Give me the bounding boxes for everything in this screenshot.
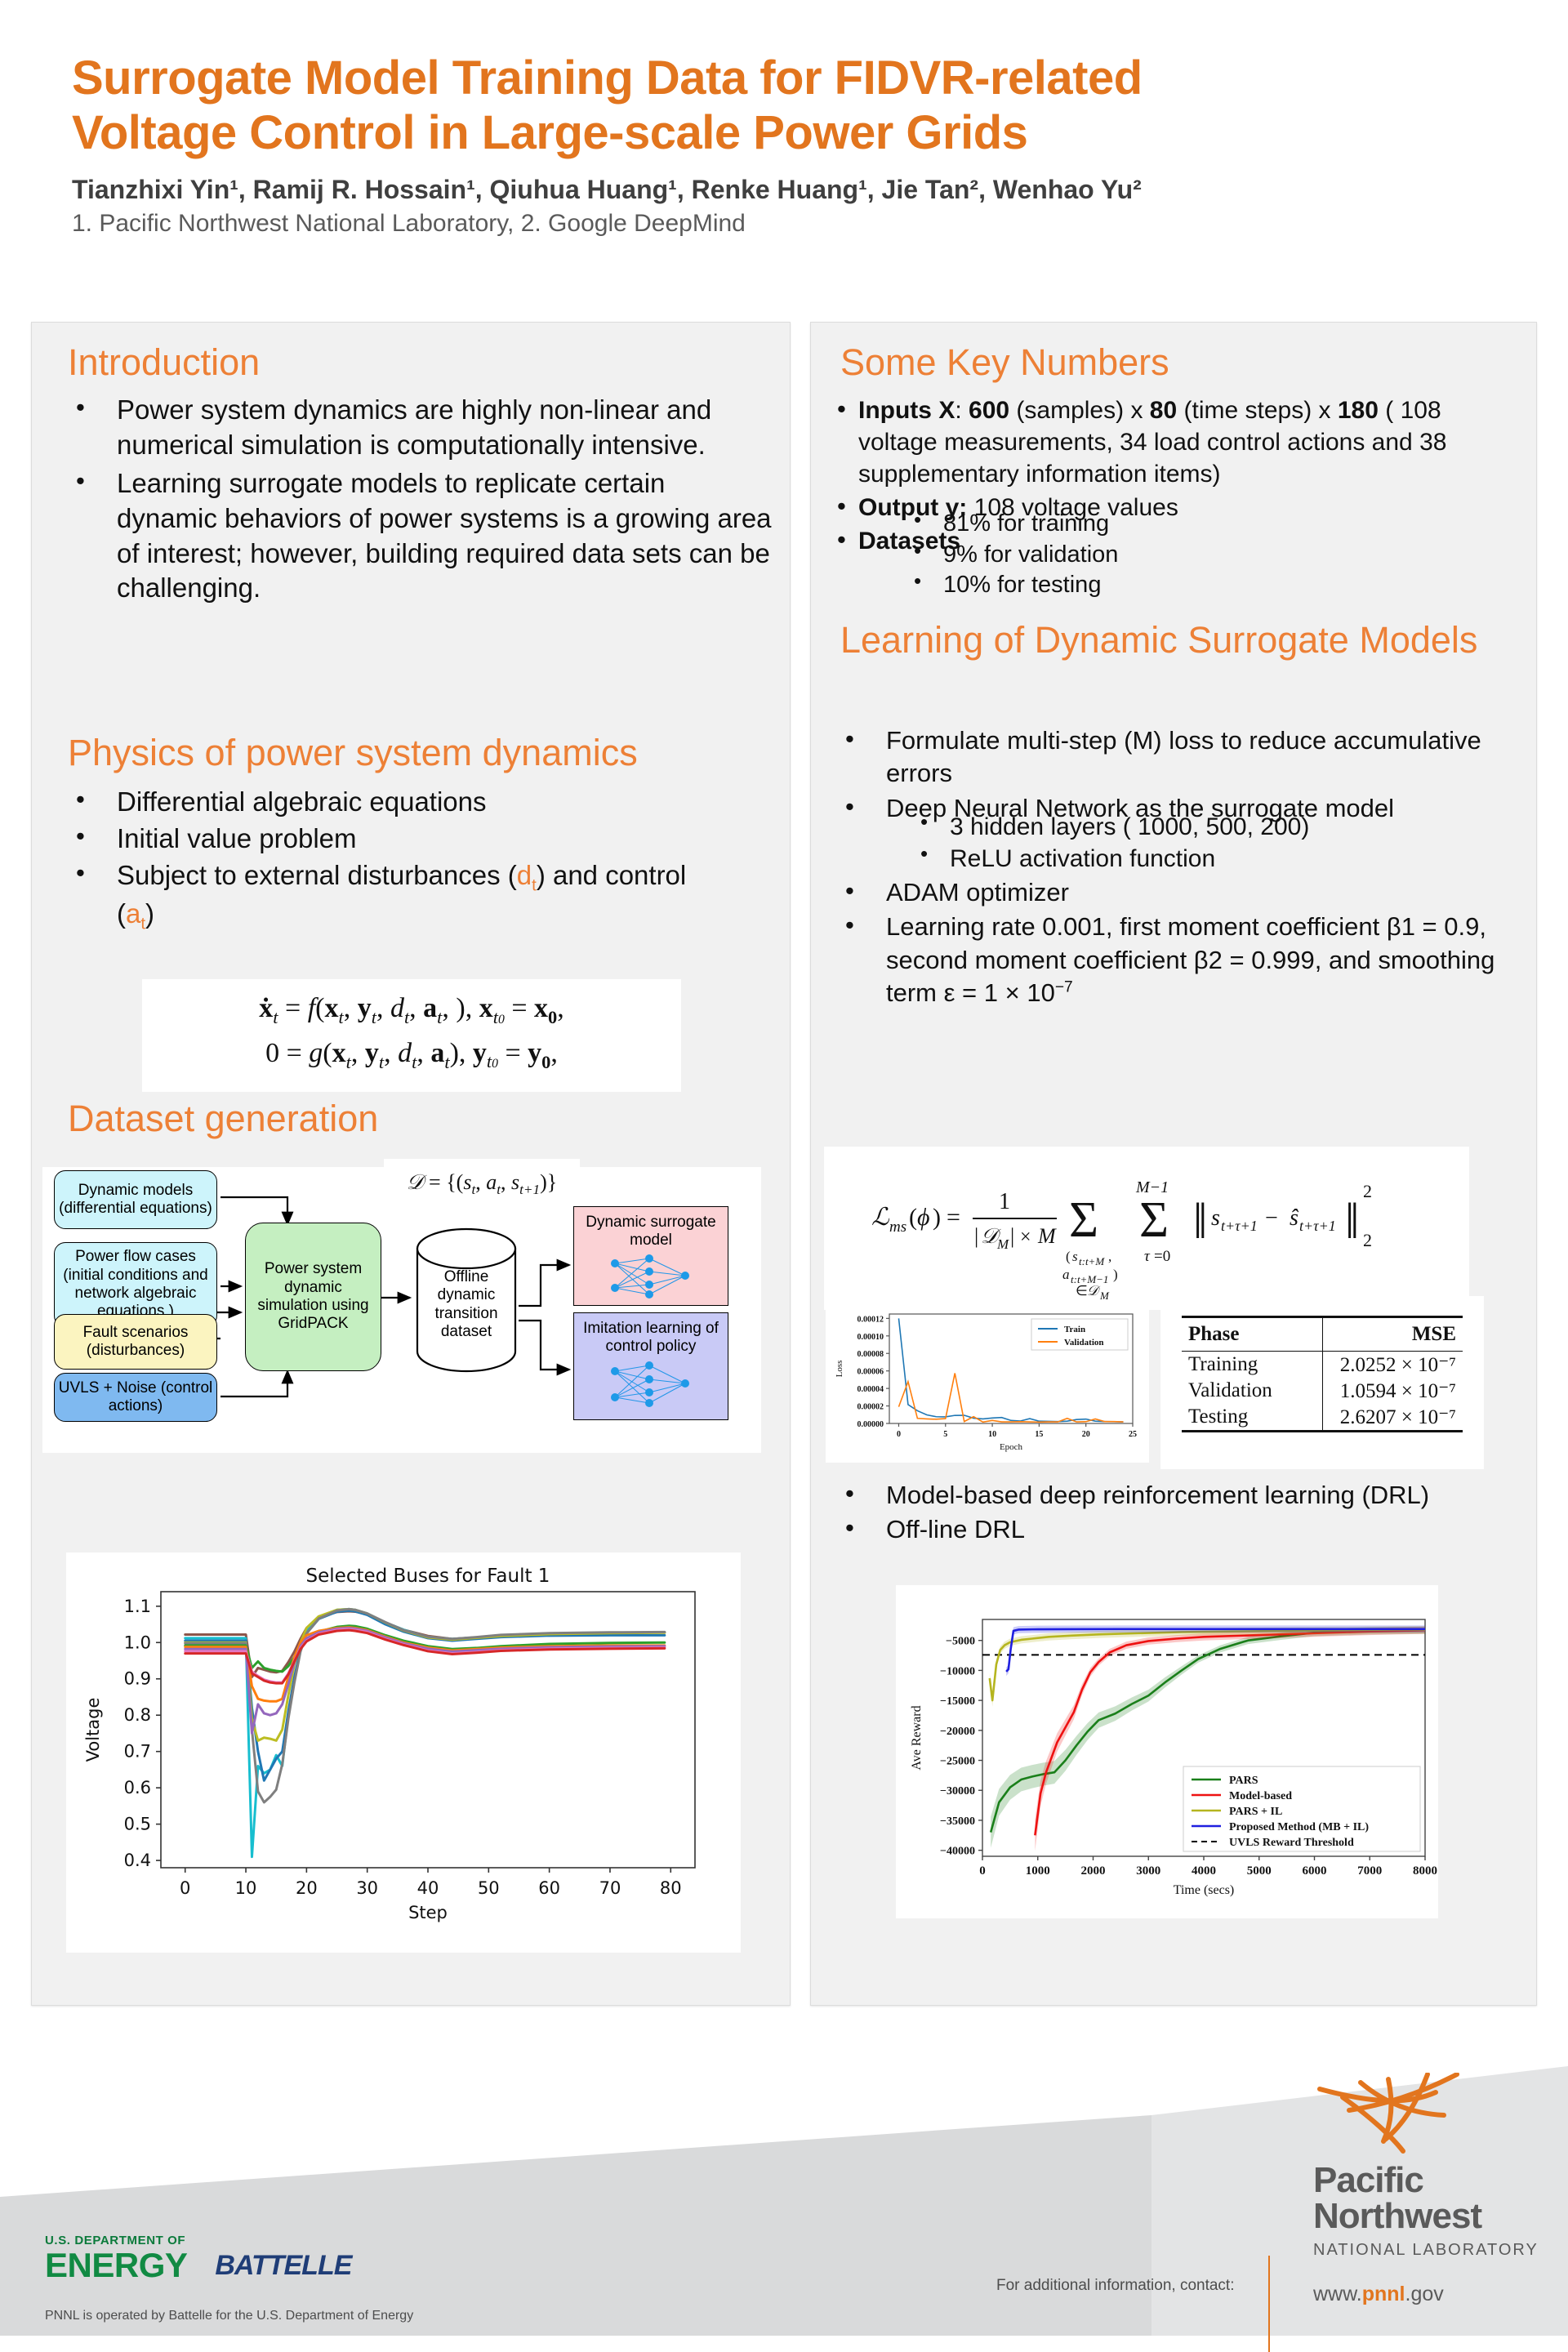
svg-text:4000: 4000: [1192, 1864, 1216, 1878]
column-header-phase: Phase: [1182, 1317, 1322, 1352]
diagram-box-label: Power flow cases (initial conditions and…: [58, 1248, 213, 1321]
url-prefix: www.: [1313, 2283, 1362, 2305]
svg-text:Selected Buses for Fault 1: Selected Buses for Fault 1: [306, 1566, 550, 1587]
diagram-box-uvls-noise: UVLS + Noise (control actions): [54, 1373, 217, 1422]
svg-text:70: 70: [599, 1878, 621, 1898]
diagram-box-label: UVLS + Noise (control actions): [58, 1379, 213, 1416]
svg-text:0: 0: [979, 1864, 986, 1878]
section-heading-introduction: Introduction: [68, 342, 260, 383]
svg-text:10: 10: [235, 1878, 257, 1898]
url-domain: pnnl: [1362, 2283, 1405, 2305]
operated-note: PNNL is operated by Battelle for the U.S…: [45, 2309, 413, 2323]
diagram-box-label: Dynamic surrogate model: [577, 1214, 724, 1250]
svg-text:0.8: 0.8: [124, 1705, 151, 1725]
table-body: Training2.0252 × 10⁻⁷Validation1.0594 × …: [1182, 1352, 1463, 1432]
diagram-box-label: Imitation learning of control policy: [577, 1320, 724, 1356]
contact-text: For additional information, contact:: [996, 2277, 1235, 2295]
cell-phase: Validation: [1182, 1378, 1322, 1404]
svg-text:PARS: PARS: [1229, 1775, 1258, 1787]
svg-text:20: 20: [296, 1878, 318, 1898]
svg-text:5: 5: [943, 1430, 947, 1439]
list-item-learning-rate: Learning rate 0.001, first moment coeffi…: [831, 911, 1525, 1009]
cell-mse: 2.0252 × 10⁻⁷: [1322, 1352, 1463, 1379]
svg-text:s: s: [1072, 1249, 1078, 1264]
svg-text:‖: ‖: [1193, 1194, 1207, 1249]
loss-equation-render: ℒ ms ( ϕ ) = 1 | 𝒟 M | × M Σ ( s: [824, 1147, 1469, 1310]
section-heading-physics: Physics of power system dynamics: [68, 733, 638, 773]
svg-text:t:t+M: t:t+M: [1079, 1255, 1105, 1267]
svg-text:M: M: [1037, 1224, 1057, 1248]
svg-text:60: 60: [538, 1878, 560, 1898]
svg-text:0: 0: [897, 1430, 901, 1439]
learning-sub-bullets: 3 hidden layers ( 1000, 500, 200) ReLU a…: [911, 811, 1482, 875]
svg-text:30: 30: [356, 1878, 378, 1898]
svg-text:s: s: [1211, 1205, 1220, 1231]
neural-net-icon: [602, 1358, 700, 1409]
left-column-panel: Introduction Power system dynamics are h…: [31, 322, 791, 2006]
list-item: 9% for validation: [904, 540, 1476, 571]
svg-text:Step: Step: [408, 1903, 448, 1922]
svg-text:=: =: [947, 1204, 960, 1231]
pnnl-logo-mark-icon: [1313, 2073, 1493, 2154]
svg-text:−40000: −40000: [940, 1846, 975, 1858]
svg-text:0.00006: 0.00006: [857, 1368, 884, 1377]
right-column-panel: Some Key Numbers Inputs X: 600 (samples)…: [810, 322, 1537, 2006]
svg-text:1000: 1000: [1026, 1864, 1050, 1878]
diagram-cylinder-offline-dataset: Offline dynamic transition dataset: [414, 1227, 519, 1373]
list-item: Model-based deep reinforcement learning …: [831, 1479, 1533, 1512]
diagram-box-surrogate-model: Dynamic surrogate model: [573, 1206, 728, 1306]
training-loss-chart: 05101520250.000000.000020.000040.000060.…: [826, 1303, 1149, 1463]
svg-text:ŝ: ŝ: [1290, 1205, 1299, 1231]
svg-text:UVLS Reward Threshold: UVLS Reward Threshold: [1229, 1837, 1354, 1849]
svg-text:0.00000: 0.00000: [857, 1420, 884, 1429]
svg-text:∈: ∈: [1076, 1283, 1088, 1298]
svg-text:40: 40: [417, 1878, 439, 1898]
pnnl-name-line1: Pacific: [1313, 2163, 1539, 2198]
svg-text:Train: Train: [1064, 1325, 1085, 1334]
svg-text:0.5: 0.5: [124, 1815, 151, 1834]
equation-xdot: ẋt = f(xt, yt, dt, at, ), xt0 = x0,: [142, 987, 681, 1032]
svg-text:Σ: Σ: [1139, 1192, 1169, 1248]
pnnl-name-line2: Northwest: [1313, 2198, 1539, 2234]
table-row: Testing2.6207 × 10⁻⁷: [1182, 1404, 1463, 1432]
diagram-box-label: Fault scenarios (disturbances): [58, 1324, 213, 1361]
physics-bullets: Differential algebraic equations Initial…: [61, 785, 780, 937]
list-item-inputs: Inputs X: 600 (samples) x 80 (time steps…: [822, 394, 1523, 490]
datasets-sub-bullets: 81% for training 9% for validation 10% f…: [904, 509, 1476, 601]
section-heading-learning: Learning of Dynamic Surrogate Models: [840, 620, 1486, 661]
doe-logo: U.S. DEPARTMENT OF ENERGY BATTELLE PNNL …: [45, 2234, 413, 2323]
svg-text:0: 0: [180, 1878, 190, 1898]
list-item: ReLU activation function: [911, 843, 1482, 875]
ave-reward-chart: 010002000300040005000600070008000−5000−1…: [896, 1585, 1438, 1918]
introduction-bullets: Power system dynamics are highly non-lin…: [61, 393, 780, 608]
list-item: ADAM optimizer: [831, 876, 1533, 909]
section-heading-dataset: Dataset generation: [68, 1098, 378, 1139]
svg-text:−20000: −20000: [940, 1726, 975, 1738]
svg-text:0.4: 0.4: [124, 1851, 151, 1870]
svg-text:5000: 5000: [1247, 1864, 1272, 1878]
multistep-loss-equation-box: ℒ ms ( ϕ ) = 1 | 𝒟 M | × M Σ ( s: [824, 1147, 1469, 1310]
svg-text:0.6: 0.6: [124, 1778, 151, 1797]
list-item: 10% for testing: [904, 570, 1476, 601]
section-heading-key-numbers: Some Key Numbers: [840, 342, 1169, 383]
svg-text:M: M: [1099, 1290, 1110, 1302]
author-list: Tianzhixi Yin¹, Ramij R. Hossain¹, Qiuhu…: [72, 174, 1509, 239]
chart-title: [66, 1552, 741, 1564]
list-item: 3 hidden layers ( 1000, 500, 200): [911, 811, 1482, 843]
dae-equation-box: ẋt = f(xt, yt, dt, at, ), xt0 = x0, 0 = …: [142, 979, 681, 1092]
svg-text:a: a: [1062, 1267, 1070, 1282]
svg-text:t+τ+1: t+τ+1: [1221, 1218, 1258, 1234]
poster-footer: U.S. DEPARTMENT OF ENERGY BATTELLE PNNL …: [0, 2066, 1568, 2352]
svg-text:0.00002: 0.00002: [857, 1403, 884, 1412]
learning-rate-text: Learning rate 0.001, first moment coeffi…: [886, 912, 1494, 1007]
diagram-box-simulation: Power system dynamic simulation using Gr…: [245, 1223, 381, 1371]
svg-text:−5000: −5000: [946, 1636, 975, 1648]
svg-text:2: 2: [1363, 1230, 1372, 1250]
svg-text:−15000: −15000: [940, 1695, 975, 1708]
svg-text:ms: ms: [889, 1218, 906, 1236]
list-item: Learning surrogate models to replicate c…: [61, 466, 772, 607]
page-title: Surrogate Model Training Data for FIDVR-…: [72, 51, 1509, 161]
svg-text:PARS + IL: PARS + IL: [1229, 1806, 1282, 1818]
svg-text:7000: 7000: [1357, 1864, 1382, 1878]
svg-text:|: |: [1010, 1224, 1014, 1248]
chart-canvas: 05101520250.000000.000020.000040.000060.…: [826, 1303, 1149, 1463]
svg-text:10: 10: [988, 1430, 996, 1439]
title-line-1: Surrogate Model Training Data for FIDVR-…: [72, 51, 1509, 105]
diagram-box-fault-scenarios: Fault scenarios (disturbances): [54, 1314, 217, 1370]
cell-phase: Testing: [1182, 1404, 1322, 1432]
bullet3-pre: Subject to external disturbances (: [117, 860, 517, 890]
equation-algebraic: 0 = g(xt, yt, dt, at), yt0 = y0,: [142, 1032, 681, 1077]
table-row: Validation1.0594 × 10⁻⁷: [1182, 1378, 1463, 1404]
list-item: Off-line DRL: [831, 1513, 1533, 1546]
diagram-box-dynamic-models: Dynamic models (differential equations): [54, 1170, 217, 1229]
svg-text:0.00008: 0.00008: [857, 1350, 884, 1359]
svg-text:,: ,: [1108, 1249, 1111, 1264]
svg-text:1.0: 1.0: [124, 1633, 151, 1652]
poster-header: Surrogate Model Training Data for FIDVR-…: [72, 51, 1509, 239]
svg-text:τ: τ: [1144, 1248, 1151, 1265]
svg-text:3000: 3000: [1136, 1864, 1160, 1878]
cell-mse: 1.0594 × 10⁻⁷: [1322, 1378, 1463, 1404]
poster-root: Surrogate Model Training Data for FIDVR-…: [0, 0, 1568, 2352]
svg-text:ϕ: ϕ: [917, 1204, 930, 1231]
svg-text:0.00004: 0.00004: [857, 1385, 884, 1394]
svg-text:50: 50: [478, 1878, 500, 1898]
svg-text:−30000: −30000: [940, 1785, 975, 1797]
svg-text:Ave Reward: Ave Reward: [910, 1705, 924, 1770]
diagram-box-label: Power system dynamic simulation using Gr…: [249, 1260, 377, 1334]
svg-text:Voltage: Voltage: [83, 1698, 103, 1762]
url-suffix: .gov: [1405, 2283, 1444, 2305]
list-item: 81% for training: [904, 509, 1476, 540]
learning-bullets-2: ADAM optimizer Learning rate 0.001, firs…: [831, 876, 1533, 1011]
svg-text:0.00012: 0.00012: [857, 1315, 884, 1324]
cell-phase: Training: [1182, 1352, 1322, 1379]
table-row: Training2.0252 × 10⁻⁷: [1182, 1352, 1463, 1379]
diagram-box-label: Dynamic models (differential equations): [58, 1182, 213, 1218]
svg-text:): ): [1113, 1267, 1118, 1282]
svg-text:2: 2: [1363, 1181, 1372, 1201]
pnnl-url[interactable]: www.pnnl.gov: [1313, 2283, 1539, 2306]
svg-text:−35000: −35000: [940, 1815, 975, 1828]
authors-text: Tianzhixi Yin¹, Ramij R. Hossain¹, Qiuhu…: [72, 175, 1142, 204]
list-item: Initial value problem: [61, 822, 780, 857]
battelle-logo: BATTELLE: [215, 2250, 351, 2282]
svg-text:×: ×: [1020, 1227, 1031, 1248]
cell-mse: 2.6207 × 10⁻⁷: [1322, 1404, 1463, 1432]
svg-text:ℒ: ℒ: [871, 1204, 890, 1231]
svg-text:−25000: −25000: [940, 1756, 975, 1768]
diagram-box-imitation-learning: Imitation learning of control policy: [573, 1312, 728, 1420]
svg-text:Loss: Loss: [835, 1361, 844, 1378]
affiliations: 1. Pacific Northwest National Laboratory…: [72, 207, 1509, 239]
list-item: Formulate multi-step (M) loss to reduce …: [831, 724, 1525, 791]
svg-text:1.1: 1.1: [124, 1597, 151, 1616]
column-header-mse: MSE: [1322, 1317, 1463, 1352]
svg-text:t+τ+1: t+τ+1: [1299, 1218, 1336, 1234]
svg-text:|: |: [974, 1224, 978, 1248]
svg-text:(: (: [909, 1204, 917, 1231]
svg-text:Time (secs): Time (secs): [1174, 1883, 1235, 1897]
svg-text:15: 15: [1035, 1430, 1043, 1439]
title-line-2: Voltage Control in Large-scale Power Gri…: [72, 105, 1509, 160]
neural-net-icon: [602, 1252, 700, 1299]
svg-text:−: −: [1265, 1205, 1278, 1231]
svg-text:6000: 6000: [1303, 1864, 1327, 1878]
chart-canvas: Selected Buses for Fault 101020304050607…: [66, 1564, 741, 1933]
svg-text:‖: ‖: [1345, 1194, 1359, 1249]
svg-text:0.9: 0.9: [124, 1669, 151, 1689]
svg-text:Model-based: Model-based: [1229, 1790, 1292, 1802]
symbol-a: at: [126, 898, 145, 929]
svg-text:1: 1: [999, 1189, 1010, 1214]
svg-text:Proposed Method (MB + IL): Proposed Method (MB + IL): [1229, 1821, 1369, 1833]
svg-text:2000: 2000: [1081, 1864, 1106, 1878]
table-header-row: Phase MSE: [1182, 1317, 1463, 1352]
cylinder-label: Offline dynamic transition dataset: [414, 1268, 519, 1342]
svg-text:): ): [933, 1204, 941, 1231]
svg-text:8000: 8000: [1413, 1864, 1437, 1878]
dataset-equation-box: 𝒟 = {(st, at, st+1)}: [384, 1159, 580, 1216]
svg-text:M−1: M−1: [1135, 1178, 1169, 1196]
svg-text:Epoch: Epoch: [1000, 1442, 1023, 1452]
pnnl-logo-text: Pacific Northwest NATIONAL LABORATORY ww…: [1313, 2163, 1539, 2306]
svg-text:0.7: 0.7: [124, 1742, 151, 1762]
svg-text:=0: =0: [1154, 1248, 1170, 1265]
doe-logo-main: ENERGY: [45, 2249, 187, 2282]
svg-text:Σ: Σ: [1069, 1192, 1098, 1248]
drl-bullets: Model-based deep reinforcement learning …: [831, 1479, 1533, 1548]
inputs-label: Inputs X: [858, 397, 955, 424]
svg-text:25: 25: [1129, 1430, 1137, 1439]
svg-text:20: 20: [1082, 1430, 1090, 1439]
svg-text:80: 80: [660, 1878, 682, 1898]
list-item: Differential algebraic equations: [61, 785, 780, 820]
selected-buses-chart: Selected Buses for Fault 101020304050607…: [66, 1552, 741, 1953]
svg-text:Validation: Validation: [1064, 1338, 1104, 1347]
dataset-generation-diagram: Dynamic models (differential equations) …: [42, 1167, 761, 1453]
bullet3-post: ): [145, 898, 154, 929]
list-item: Power system dynamics are highly non-lin…: [61, 393, 715, 463]
symbol-d: dt: [517, 860, 537, 890]
pnnl-subtitle: NATIONAL LABORATORY: [1313, 2241, 1539, 2260]
chart-canvas: 010002000300040005000600070008000−5000−1…: [896, 1585, 1438, 1918]
authors-line: Tianzhixi Yin¹, Ramij R. Hossain¹, Qiuhu…: [72, 174, 1509, 206]
list-item-disturbances: Subject to external disturbances (dt) an…: [61, 858, 715, 935]
svg-text:(: (: [1066, 1249, 1071, 1264]
svg-text:M: M: [996, 1236, 1009, 1252]
divider: [1268, 2256, 1270, 2352]
learning-rate-exponent: −7: [1055, 979, 1073, 996]
mse-table: Phase MSE Training2.0252 × 10⁻⁷Validatio…: [1160, 1296, 1484, 1469]
svg-text:−10000: −10000: [940, 1665, 975, 1677]
svg-text:0.00010: 0.00010: [857, 1333, 884, 1342]
